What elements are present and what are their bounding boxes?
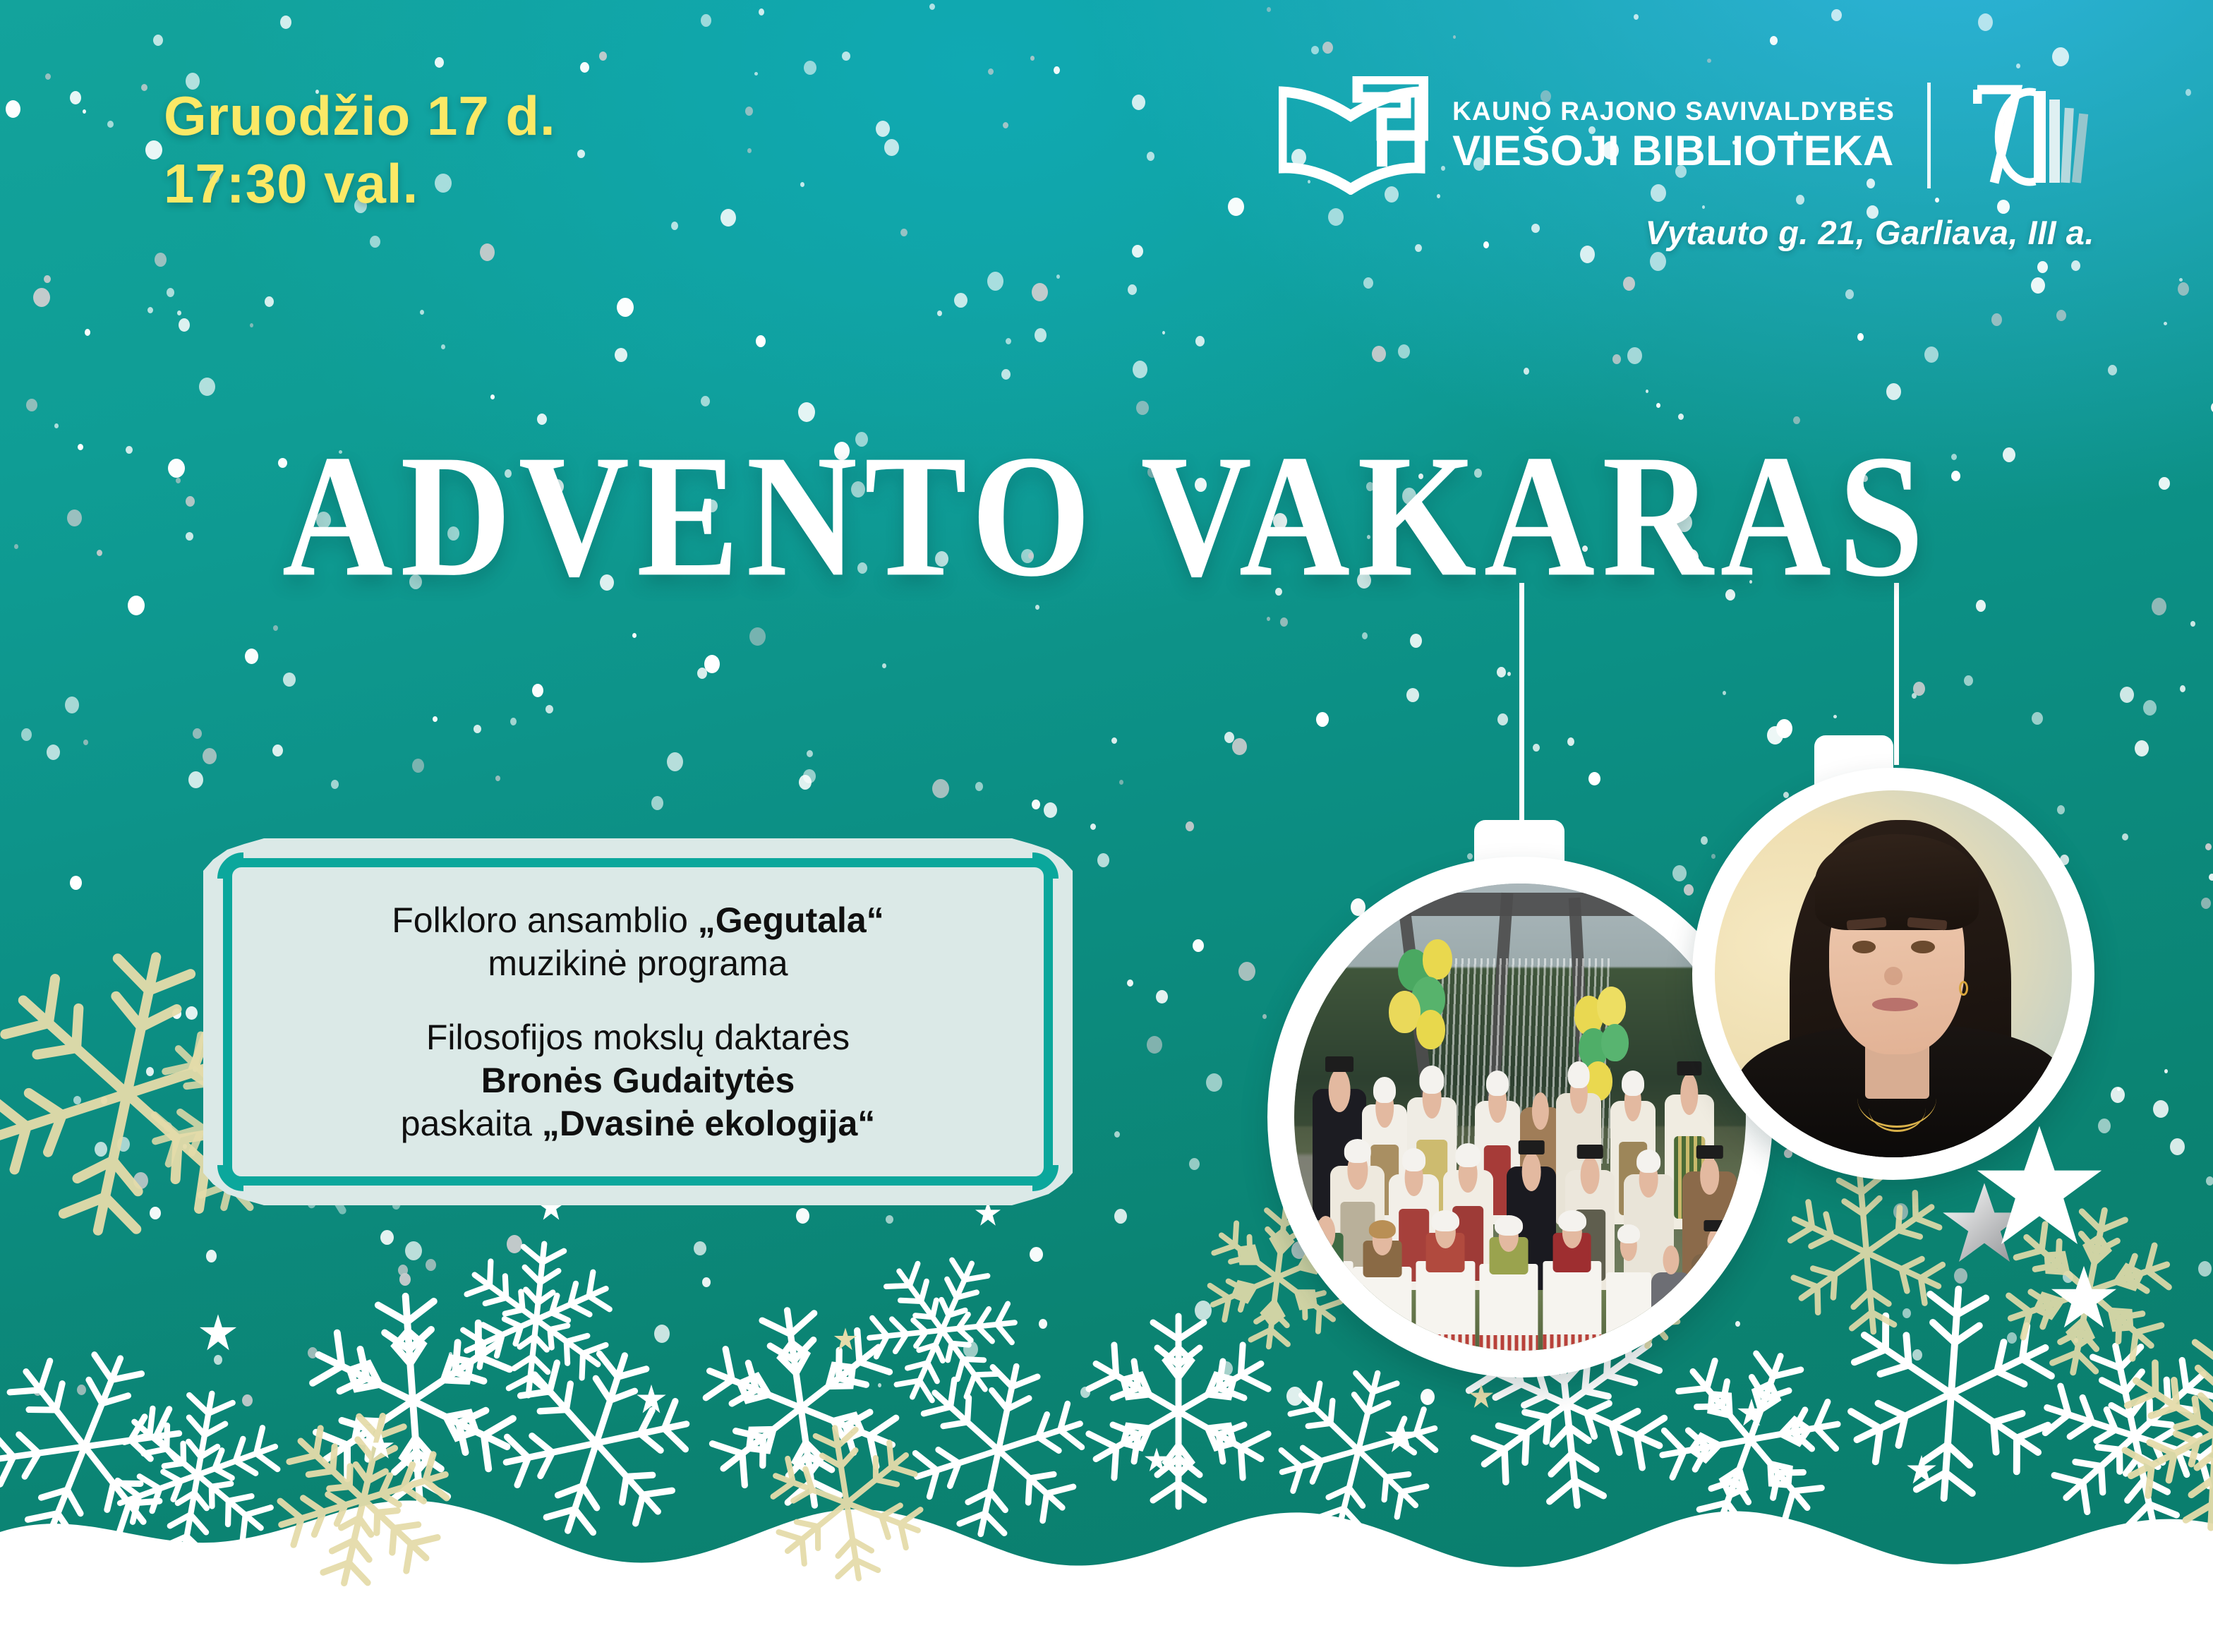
snow-dot — [1497, 667, 1506, 677]
event-date: Gruodžio 17 d. — [164, 83, 556, 148]
snow-dot — [1913, 682, 1925, 696]
snow-dot — [2205, 843, 2212, 850]
snow-dot — [2007, 1332, 2017, 1344]
snowflake-decoration — [886, 1337, 1111, 1563]
snow-dot — [2179, 278, 2183, 282]
snowflake-decoration — [1771, 1157, 1962, 1349]
snow-dot — [1195, 1301, 1212, 1320]
snow-dot — [1267, 7, 1271, 12]
snow-dot — [876, 121, 890, 137]
snow-dot — [756, 335, 766, 347]
snow-dot — [70, 876, 82, 890]
snow-dot — [2178, 282, 2189, 296]
ensemble-name: „Gegutala“ — [698, 900, 884, 940]
snow-dot — [1228, 198, 1244, 216]
snow-dot — [1147, 1036, 1162, 1054]
snow-dot — [1206, 1073, 1222, 1092]
snow-dot — [507, 1235, 522, 1253]
snow-dot — [33, 288, 50, 307]
snow-dot — [435, 57, 444, 68]
snow-dot — [480, 243, 495, 261]
snow-dot — [2209, 874, 2213, 881]
snow-dot — [26, 399, 37, 411]
snow-dot — [1032, 283, 1048, 301]
snow-dot — [1588, 772, 1600, 785]
snow-dot — [44, 275, 51, 283]
snow-dot — [545, 705, 553, 713]
snow-dot — [2198, 1261, 2212, 1277]
snow-dot — [1132, 95, 1145, 110]
snow-dot — [1054, 66, 1060, 74]
snow-dot — [77, 1385, 86, 1395]
snow-dot — [1362, 632, 1368, 639]
snow-dot — [577, 150, 585, 158]
snow-dot — [272, 744, 283, 756]
snow-dot — [1857, 333, 1864, 341]
snow-dot — [617, 298, 634, 317]
snow-dot — [155, 253, 167, 267]
snow-dot — [884, 139, 899, 156]
snow-dot — [188, 771, 203, 788]
snow-dot — [193, 728, 202, 739]
snow-dot — [1406, 688, 1419, 702]
snow-dot — [1991, 313, 2002, 326]
snow-dot — [193, 1066, 198, 1072]
star-decoration-small — [2051, 1265, 2117, 1331]
snow-dot — [145, 140, 162, 159]
folk-ensemble-group-photo — [1294, 884, 1746, 1351]
snow-dot — [2185, 89, 2191, 96]
snow-dot — [1533, 744, 1540, 752]
snow-dot — [954, 293, 967, 308]
event-time: 17:30 val. — [164, 151, 556, 216]
snow-dot — [704, 655, 720, 673]
snow-dot — [1128, 284, 1137, 295]
snow-dot — [651, 796, 663, 810]
snowflake-decoration — [1982, 1184, 2197, 1399]
ornament-portrait[interactable] — [1692, 735, 2094, 1180]
snow-dot — [1133, 361, 1147, 378]
snow-dot — [1162, 331, 1165, 334]
event-details-box: Folkloro ansamblio „Gegutala“ muzikinė p… — [203, 838, 1073, 1205]
snow-dot — [1453, 35, 1456, 39]
snow-dot — [1267, 617, 1270, 621]
snow-dot — [1219, 1361, 1233, 1376]
snow-dot — [1097, 853, 1109, 867]
details-box-text: Folkloro ansamblio „Gegutala“ muzikinė p… — [223, 858, 1053, 1186]
snow-dot — [1978, 13, 1993, 31]
snow-dot — [580, 62, 589, 73]
snow-dot — [800, 182, 804, 187]
snow-dot — [186, 1006, 198, 1020]
snowflake-decoration — [467, 1314, 725, 1572]
lecture-title: „Dvasinė ekologija“ — [542, 1104, 875, 1143]
snow-dot — [2164, 1069, 2168, 1073]
snow-dot — [2063, 1271, 2073, 1283]
snow-dot — [1006, 338, 1011, 344]
snow-dot — [759, 8, 764, 16]
snow-dot — [206, 1250, 217, 1262]
snow-dot — [803, 769, 816, 783]
program-line-2: muzikinė programa — [488, 942, 788, 985]
snow-dot — [273, 625, 278, 631]
snow-dot — [1770, 36, 1778, 45]
snow-dot — [101, 1097, 107, 1104]
snow-dot — [1003, 122, 1008, 128]
snow-dot — [900, 229, 907, 236]
snow-dot — [147, 307, 153, 313]
snow-dot — [2120, 687, 2134, 703]
snow-dot — [2143, 700, 2157, 716]
snow-dot — [702, 1277, 711, 1287]
snow-dot — [2135, 740, 2149, 756]
logo-row: KAUNO RAJONO SAVIVALDYBĖS VIEŠOJI BIBLIO… — [1279, 76, 2094, 195]
ornament-ball-right — [1692, 768, 2094, 1180]
snow-dot — [1567, 737, 1574, 746]
event-datetime: Gruodžio 17 d. 17:30 val. — [164, 83, 556, 216]
snow-dot — [1127, 979, 1133, 987]
snow-dot — [796, 1208, 809, 1224]
snow-dot — [599, 52, 607, 61]
snow-dot — [1964, 675, 1973, 686]
snow-dot — [720, 209, 736, 227]
snow-dot — [510, 718, 517, 725]
snow-dot — [1156, 990, 1168, 1003]
snow-dot — [2052, 47, 2069, 66]
snow-dot — [1650, 252, 1666, 271]
snow-dot — [70, 91, 81, 104]
snow-dot — [2056, 310, 2066, 321]
snow-dot — [1623, 277, 1635, 291]
snow-dot — [937, 310, 942, 316]
snow-dot — [671, 222, 678, 230]
snow-dot — [242, 1394, 253, 1406]
venue-address: Vytauto g. 21, Garliava, III a. — [1646, 213, 2094, 252]
snowflake-decoration — [91, 1368, 303, 1581]
snow-dot — [1421, 1389, 1435, 1405]
star-decoration — [367, 1433, 395, 1461]
snow-dot — [2111, 1087, 2125, 1103]
snow-dot — [1238, 962, 1255, 981]
snow-dot — [654, 1325, 670, 1343]
snowflake-decoration — [2104, 1321, 2213, 1543]
snow-dot — [701, 396, 710, 406]
snow-dot — [83, 740, 88, 745]
snow-drift — [0, 1320, 2213, 1652]
snow-dot — [1954, 1268, 1967, 1284]
snow-dot — [54, 423, 59, 428]
snowflake-decoration — [249, 1385, 478, 1614]
snow-dot — [1646, 390, 1648, 393]
snow-dot — [667, 752, 683, 771]
snow-dot — [1507, 672, 1511, 676]
snow-dot — [150, 1207, 161, 1219]
snow-dot — [146, 1067, 154, 1076]
snow-dot — [214, 1355, 222, 1365]
snow-dot — [1845, 289, 1854, 299]
star-decoration-silver — [1942, 1181, 2027, 1266]
snowflake-decoration — [1073, 1306, 1284, 1517]
snow-dot — [1189, 1158, 1200, 1170]
snow-dot — [153, 35, 163, 46]
snow-dot — [2032, 712, 2043, 725]
snow-dot — [117, 1137, 130, 1152]
snow-dot — [842, 52, 850, 61]
snow-dot — [1030, 1247, 1043, 1262]
snowflake-decoration — [443, 1226, 629, 1413]
snow-dot — [2031, 277, 2045, 294]
snow-dot — [2016, 64, 2020, 68]
snowflake-decoration — [750, 1406, 944, 1600]
snow-dot — [2180, 685, 2185, 692]
star-decoration — [1468, 1383, 1495, 1410]
snow-dot — [988, 68, 994, 75]
snow-dot — [45, 73, 51, 80]
snow-dot — [164, 1122, 172, 1132]
snow-dot — [65, 697, 79, 713]
snow-dot — [179, 318, 190, 332]
snow-dot — [183, 1144, 187, 1149]
lecturer-portrait-photo — [1715, 790, 2072, 1157]
snow-dot — [1030, 56, 1035, 61]
snow-dot — [380, 1230, 394, 1245]
snowflake-decoration — [0, 1309, 222, 1585]
snow-dot — [245, 649, 258, 664]
snow-dot — [1723, 691, 1726, 695]
snow-dot — [987, 272, 1003, 291]
snow-dot — [405, 1241, 422, 1260]
snow-dot — [433, 716, 438, 722]
snow-dot — [1080, 1387, 1090, 1398]
snow-dot — [426, 1259, 436, 1271]
snowflake-decoration — [835, 1223, 1049, 1437]
snow-dot — [73, 1096, 81, 1104]
snow-dot — [1886, 383, 1901, 400]
snow-dot — [882, 663, 886, 668]
snow-dot — [370, 236, 380, 248]
snow-dot — [1656, 403, 1660, 408]
page-title: ADVENTO VAKARAS — [0, 429, 2213, 605]
snow-dot — [474, 725, 481, 733]
snow-dot — [331, 780, 339, 789]
snow-dot — [1001, 369, 1011, 380]
snow-dot — [2071, 260, 2080, 271]
snow-dot — [1524, 368, 1529, 375]
snow-dot — [398, 1265, 408, 1276]
snow-dot — [2037, 261, 2048, 273]
snow-dot — [280, 16, 291, 29]
snow-dot — [975, 782, 983, 791]
snow-dot — [886, 1215, 893, 1224]
snow-dot — [2117, 1087, 2121, 1091]
snow-dot — [283, 673, 296, 687]
snow-dot — [932, 779, 949, 798]
snow-dot — [1497, 713, 1508, 725]
snow-dot — [2074, 1338, 2078, 1343]
star-decoration — [1143, 1447, 1170, 1473]
snow-dot — [1627, 347, 1642, 364]
snow-dot — [1893, 1203, 1908, 1220]
snow-dot — [1232, 738, 1247, 755]
logo-divider — [1927, 83, 1931, 188]
snow-dot — [1193, 939, 1204, 952]
snow-dot — [1262, 1014, 1267, 1019]
snow-dot — [47, 744, 60, 760]
snow-dot — [747, 148, 752, 153]
snow-dot — [694, 1241, 706, 1255]
snow-dot — [2122, 833, 2128, 840]
snow-dot — [495, 776, 500, 781]
snow-dot — [1634, 14, 1639, 20]
ornament-string-left — [1519, 583, 1524, 850]
portrait-photo-frame — [1715, 790, 2072, 1157]
snowflake-decoration — [2013, 1315, 2213, 1557]
snow-dot — [1195, 336, 1205, 346]
snow-dot — [141, 84, 147, 91]
snow-dot — [250, 323, 253, 327]
snow-dot — [1903, 1308, 1911, 1318]
logo-line-1: KAUNO RAJONO SAVIVALDYBĖS — [1452, 97, 1895, 126]
snow-dot — [1912, 1349, 1922, 1361]
snow-dot — [1224, 732, 1234, 743]
snow-dot — [754, 72, 758, 76]
snow-dot — [632, 633, 637, 638]
snow-dot — [33, 1385, 42, 1396]
snow-dot — [1280, 617, 1288, 627]
lecture-plain: paskaita — [401, 1104, 542, 1143]
snow-dot — [95, 1142, 107, 1157]
lecturer-name: Bronės Gudaitytės — [481, 1059, 795, 1102]
snow-dot — [449, 1352, 452, 1356]
logo-wordmark: KAUNO RAJONO SAVIVALDYBĖS VIEŠOJI BIBLIO… — [1452, 97, 1895, 174]
snow-dot — [1398, 344, 1410, 358]
star-decoration — [635, 1383, 668, 1416]
snow-dot — [1612, 354, 1621, 364]
snow-dot — [750, 1394, 756, 1401]
snow-dot — [172, 1008, 181, 1019]
snow-dot — [308, 1347, 318, 1358]
group-photo-frame — [1294, 884, 1746, 1351]
snow-dot — [1056, 275, 1060, 279]
snow-dot — [107, 121, 114, 128]
snow-dot — [1119, 780, 1123, 785]
snow-dot — [749, 627, 766, 646]
snow-dot — [2108, 365, 2117, 375]
snow-dot — [265, 296, 274, 307]
star-decoration — [1383, 1418, 1420, 1455]
snow-dot — [804, 61, 816, 75]
snow-dot — [2153, 1100, 2169, 1118]
snow-dot — [1090, 824, 1096, 830]
snow-dot — [6, 100, 20, 118]
logo-line-2: VIEŠOJI BIBLIOTEKA — [1452, 128, 1895, 174]
snow-dot — [490, 394, 495, 399]
snow-dot — [615, 348, 627, 362]
snowflake-decoration — [1827, 1270, 2075, 1518]
snow-dot — [1311, 46, 1319, 54]
open-book-logo-icon — [1279, 76, 1428, 195]
snow-dot — [412, 759, 424, 773]
snow-dot — [83, 109, 86, 114]
snow-dot — [2201, 898, 2211, 909]
snow-dot — [85, 329, 90, 336]
snowflake-decoration — [289, 1277, 537, 1525]
snow-dot — [807, 750, 813, 757]
snow-dot — [2190, 621, 2195, 627]
snow-dot — [167, 288, 174, 297]
star-decoration — [1905, 1454, 1938, 1486]
snow-dot — [745, 107, 753, 116]
lecture-line-3: paskaita „Dvasinė ekologija“ — [401, 1102, 876, 1145]
snow-dot — [1410, 634, 1422, 648]
snowflake-decoration — [677, 1284, 924, 1531]
snow-dot — [1322, 42, 1333, 54]
seventy-years-books-icon — [1973, 83, 2094, 188]
snow-dot — [2164, 322, 2167, 325]
snow-dot — [963, 1341, 978, 1358]
snow-dot — [532, 684, 543, 697]
snow-dot — [1363, 277, 1373, 289]
snow-dot — [1316, 712, 1329, 727]
snow-dot — [1833, 715, 1837, 718]
snow-dot — [799, 775, 812, 790]
snow-dot — [1039, 1319, 1047, 1329]
snow-dot — [1372, 346, 1386, 362]
snow-dot — [1132, 245, 1143, 258]
snow-dot — [1186, 821, 1194, 831]
snow-dot — [199, 378, 215, 396]
star-decoration — [1736, 1397, 1767, 1428]
snow-dot — [1831, 9, 1842, 21]
snow-dot — [399, 1273, 411, 1286]
snow-dot — [1286, 1387, 1303, 1406]
snow-dot — [697, 668, 707, 679]
snow-dot — [1032, 800, 1040, 809]
poster-canvas: Gruodžio 17 d. 17:30 val. KAUNO RAJONO S… — [0, 0, 2213, 1652]
library-logo-block: KAUNO RAJONO SAVIVALDYBĖS VIEŠOJI BIBLIO… — [1279, 76, 2094, 252]
snow-dot — [177, 310, 181, 315]
snow-dot — [1114, 1131, 1120, 1138]
snow-dot — [1111, 737, 1117, 744]
snow-dot — [1147, 152, 1154, 161]
star-decoration — [198, 1313, 239, 1353]
snow-dot — [2098, 1119, 2111, 1133]
snow-dot — [878, 1383, 881, 1387]
lecture-line-1: Filosofijos mokslų daktarės — [426, 1016, 850, 1059]
snow-dot — [2170, 1138, 2185, 1155]
snow-dot — [1136, 401, 1149, 415]
snow-dot — [701, 14, 711, 27]
snow-dot — [133, 1172, 148, 1189]
snow-dot — [1707, 59, 1711, 63]
snow-dot — [21, 728, 32, 741]
snow-dot — [1044, 802, 1057, 818]
snow-dot — [2206, 1176, 2213, 1186]
snow-dot — [203, 748, 217, 764]
snow-dot — [1114, 1209, 1127, 1224]
snow-dot — [441, 344, 445, 349]
snow-dot — [1912, 693, 1917, 699]
snow-dot — [420, 310, 424, 315]
star-decoration — [833, 1327, 858, 1352]
snow-dot — [1035, 328, 1047, 342]
snow-dot — [1924, 346, 1938, 363]
program-plain-1: Folkloro ansamblio — [392, 900, 698, 940]
program-line-1: Folkloro ansamblio „Gegutala“ — [392, 899, 884, 942]
snow-dot — [929, 4, 935, 10]
